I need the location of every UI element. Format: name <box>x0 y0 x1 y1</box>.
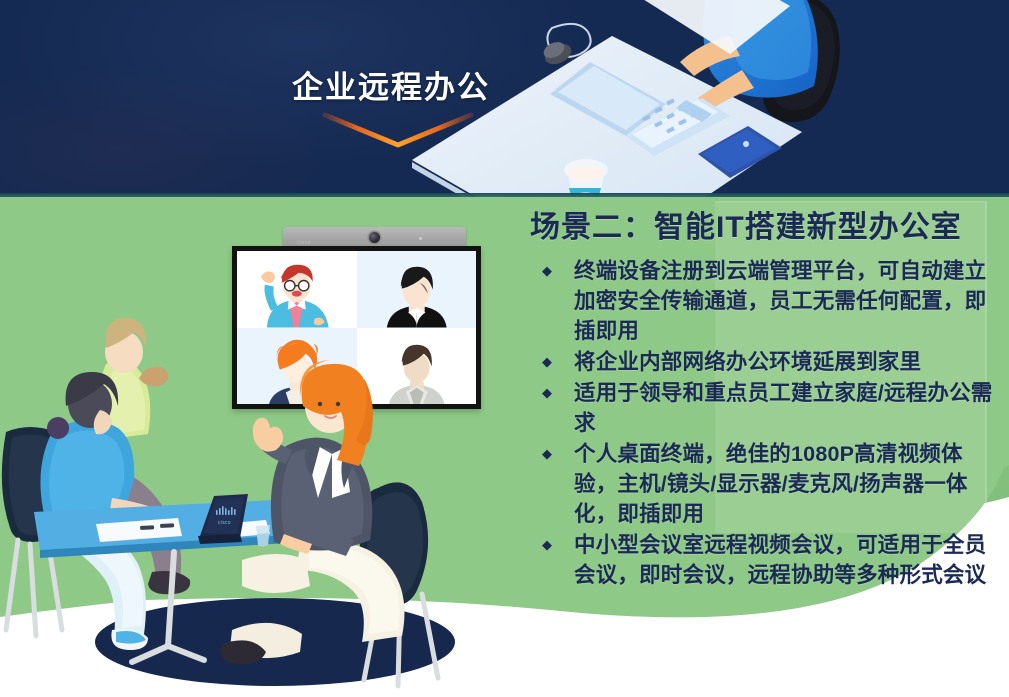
chevron-down-icon <box>322 111 474 151</box>
camera-lens-icon <box>369 232 380 243</box>
banner: 企业远程办公 <box>0 0 1009 197</box>
list-item: ◆ 个人桌面终端，绝佳的1080P高清视频体验，主机/镜头/显示器/麦克风/扬声… <box>534 439 1004 529</box>
list-item-text: 中小型会议室远程视频会议，可适用于全员会议，即时会议，远程协助等多种形式会议 <box>574 530 1004 590</box>
diamond-bullet-icon: ◆ <box>534 530 574 560</box>
section-heading: 场景二：智能IT搭建新型办公室 <box>530 202 962 246</box>
bullet-list: ◆ 终端设备注册到云端管理平台，可自动建立加密安全传输通道，员工无需任何配置，即… <box>534 256 1004 591</box>
list-item-text: 适用于领导和重点员工建立家庭/远程办公需求 <box>574 378 1004 438</box>
list-item-text: 个人桌面终端，绝佳的1080P高清视频体验，主机/镜头/显示器/麦克风/扬声器一… <box>574 439 1004 529</box>
diamond-bullet-icon: ◆ <box>534 378 574 408</box>
list-item-text: 将企业内部网络办公环境延展到家里 <box>574 347 1004 377</box>
camera-indicator-icon <box>419 237 422 240</box>
svg-text:cisco: cisco <box>218 520 231 526</box>
remote-work-desk-illustration <box>430 0 850 192</box>
meeting-room-illustration: cisco <box>0 300 560 697</box>
diamond-bullet-icon: ◆ <box>534 347 574 377</box>
slide-canvas: 企业远程办公 cisco <box>0 0 1009 697</box>
diamond-bullet-icon: ◆ <box>534 256 574 286</box>
list-item: ◆ 中小型会议室远程视频会议，可适用于全员会议，即时会议，远程协助等多种形式会议 <box>534 530 1004 590</box>
list-item-text: 终端设备注册到云端管理平台，可自动建立加密安全传输通道，员工无需任何配置，即插即… <box>574 256 1004 346</box>
page-title: 企业远程办公 <box>292 62 490 107</box>
list-item: ◆ 将企业内部网络办公环境延展到家里 <box>534 347 1004 377</box>
list-item: ◆ 适用于领导和重点员工建立家庭/远程办公需求 <box>534 378 1004 438</box>
diamond-bullet-icon: ◆ <box>534 439 574 469</box>
list-item: ◆ 终端设备注册到云端管理平台，可自动建立加密安全传输通道，员工无需任何配置，即… <box>534 256 1004 346</box>
